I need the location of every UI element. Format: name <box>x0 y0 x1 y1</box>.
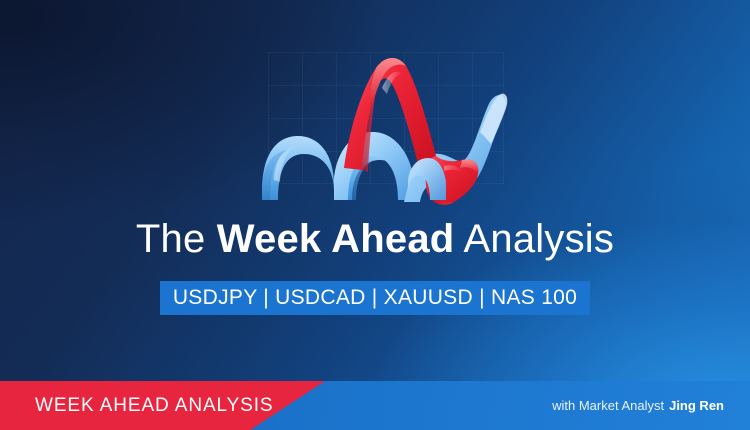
page-title: The Week Ahead Analysis <box>0 216 750 262</box>
week-ahead-analysis-banner: The Week Ahead Analysis USDJPY | USDCAD … <box>0 0 750 430</box>
analyst-credit-prefix: with Market Analyst <box>552 398 664 413</box>
instruments-badge: USDJPY | USDCAD | XAUUSD | NAS 100 <box>160 281 590 315</box>
footer-bar: WEEK AHEAD ANALYSIS with Market Analyst … <box>0 381 750 430</box>
title-part-analysis: Analysis <box>454 217 614 261</box>
analyst-name: Jing Ren <box>669 398 724 413</box>
ribbon-chart-icon <box>248 40 518 205</box>
analyst-credit: with Market Analyst Jing Ren <box>552 381 724 430</box>
instruments-badge-row: USDJPY | USDCAD | XAUUSD | NAS 100 <box>0 281 750 315</box>
title-part-the: The <box>136 217 217 261</box>
title-part-week-ahead: Week Ahead <box>217 217 455 261</box>
footer-title: WEEK AHEAD ANALYSIS <box>35 381 274 430</box>
